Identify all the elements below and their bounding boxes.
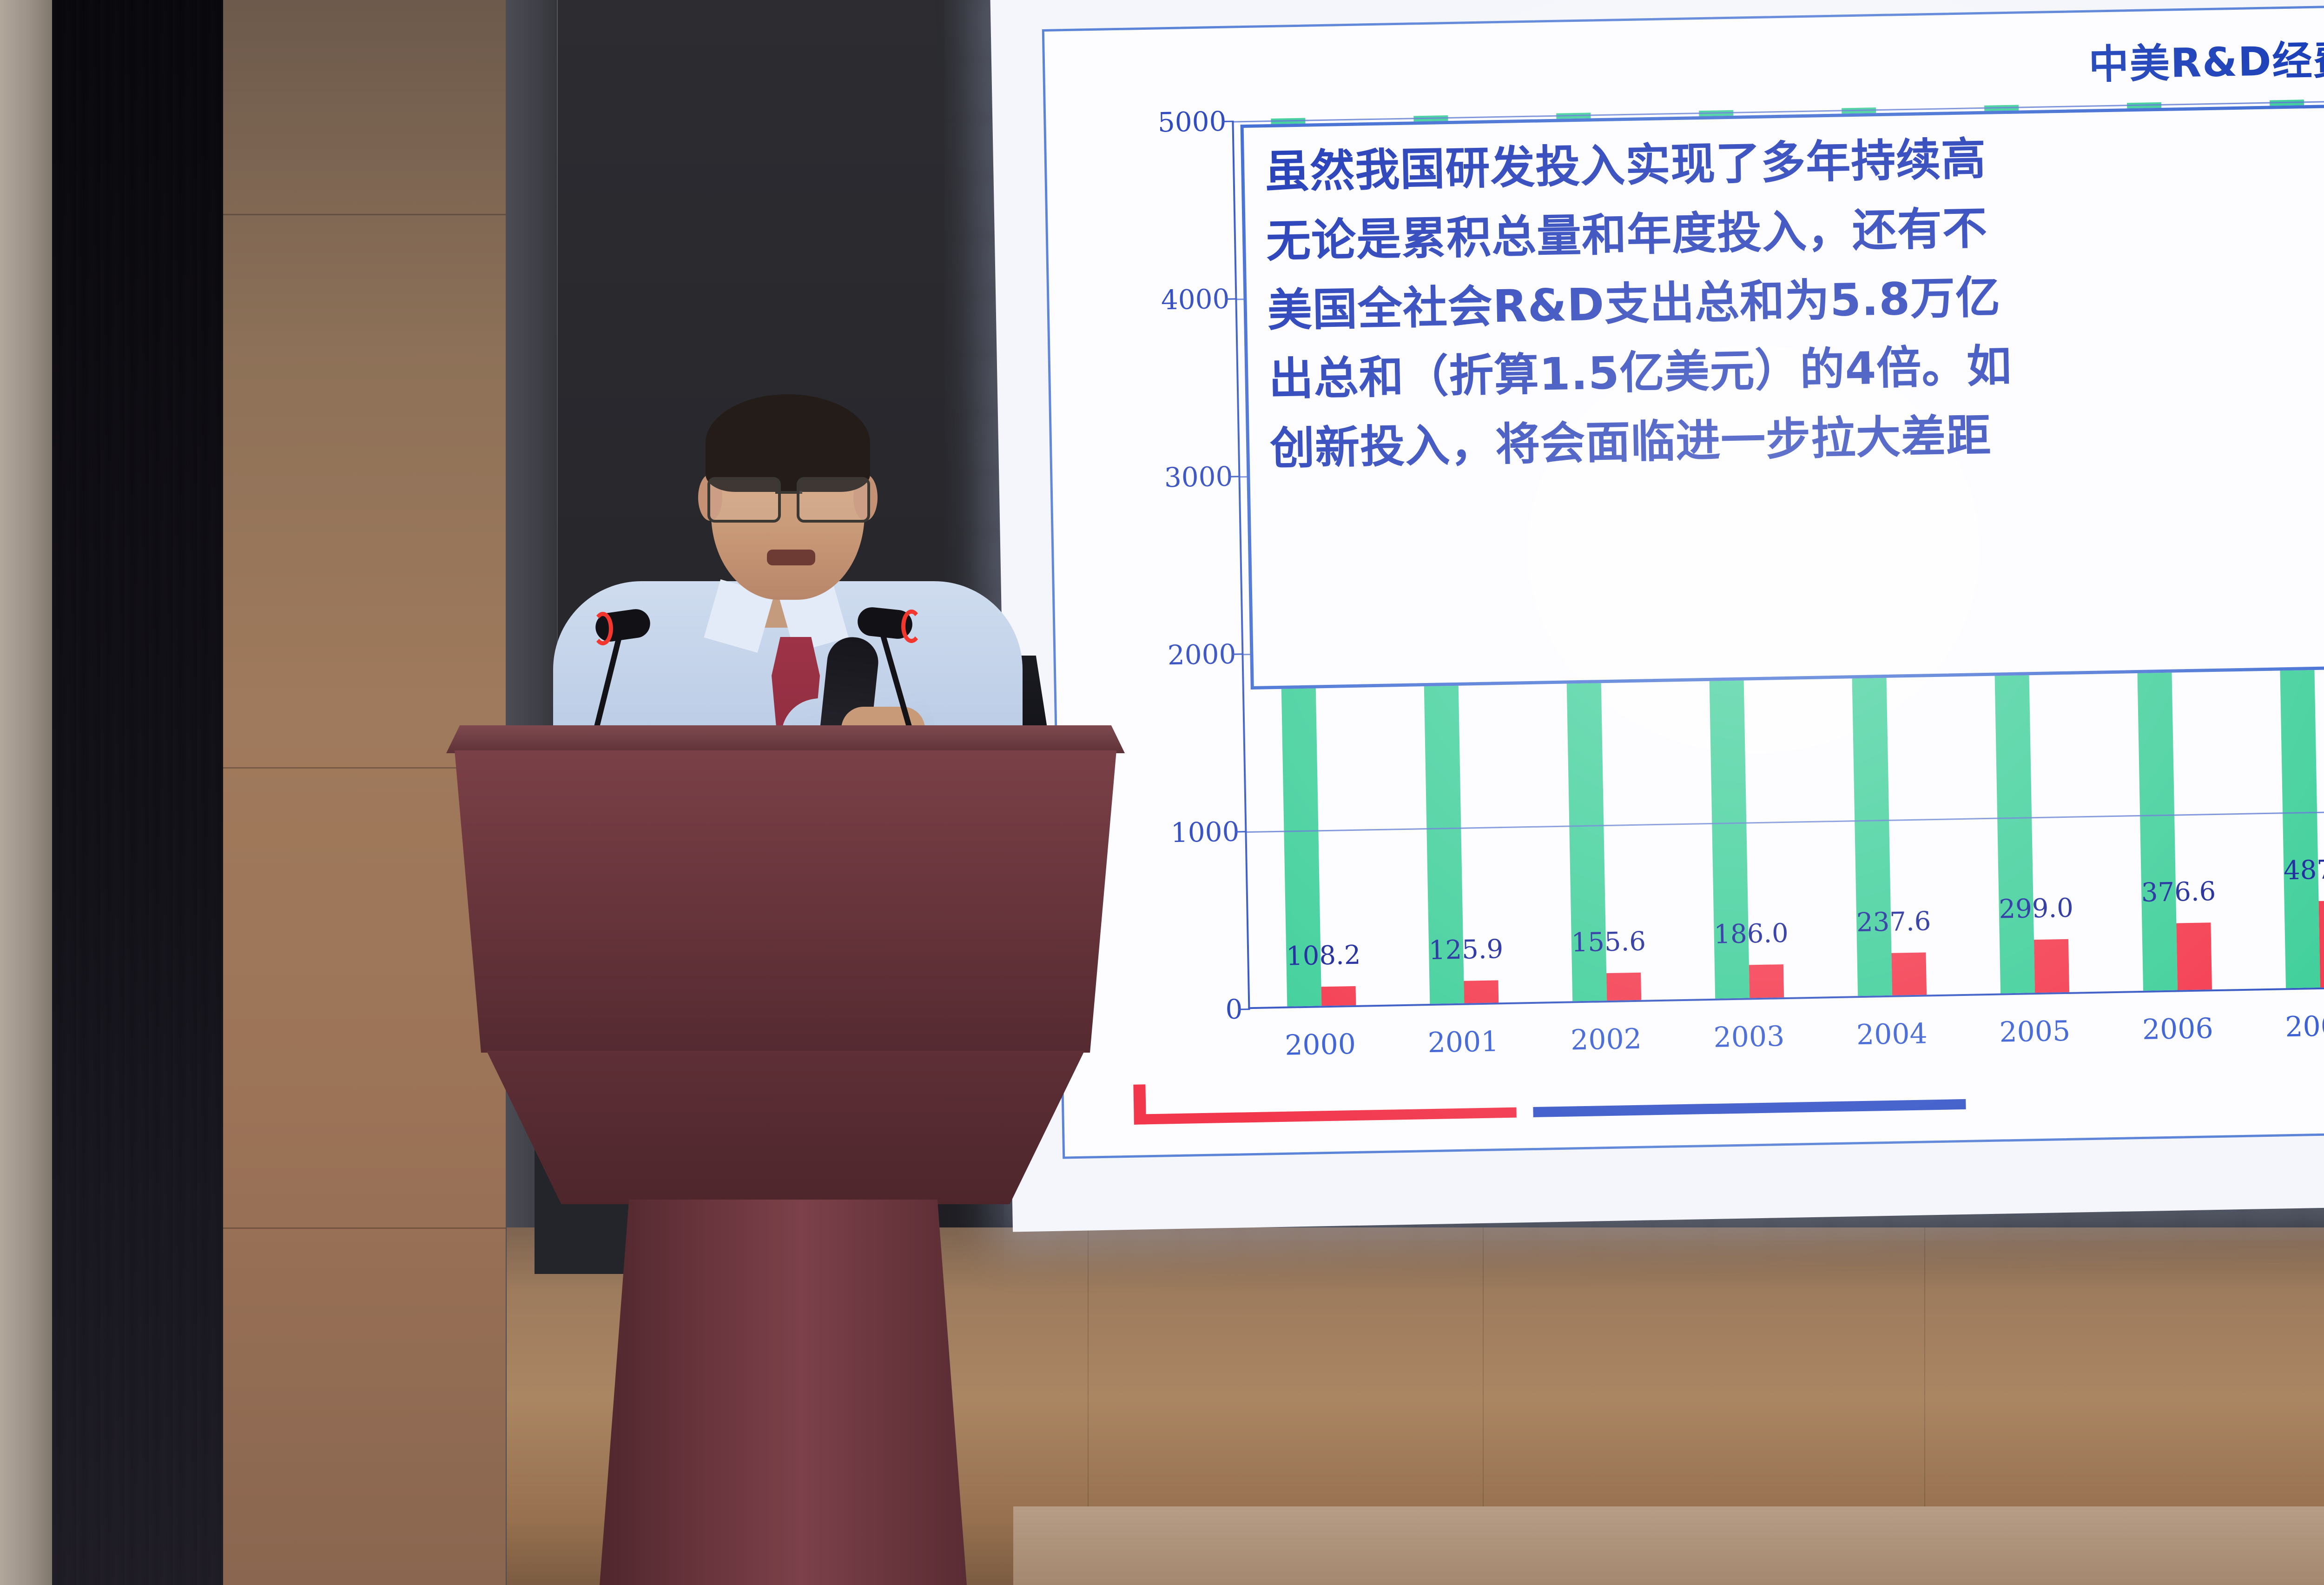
chart-bar-red bbox=[1749, 964, 1783, 998]
presentation-photo-stage: 中美R&D经费支 108.2125.9155.6186.0237.6299.03… bbox=[0, 0, 2324, 1585]
chart-y-tick-label: 5000 bbox=[1157, 106, 1227, 139]
glasses-icon bbox=[707, 477, 870, 517]
chart-y-tick-label: 4000 bbox=[1161, 283, 1230, 316]
chart-bar-red bbox=[1606, 972, 1641, 1001]
chart-bar-red bbox=[2176, 922, 2212, 990]
chart-x-tick-label: 2006 bbox=[2142, 1012, 2213, 1046]
chart-y-tick-mark bbox=[1221, 120, 1234, 122]
slide-text-line: 虽然我国研发投入实现了多年持续高 bbox=[1264, 123, 2324, 201]
chart-bar-red bbox=[2033, 939, 2069, 993]
left-pillar bbox=[0, 0, 55, 1585]
chart-x-tick-label: 2007 bbox=[2285, 1010, 2324, 1044]
chart-y-tick-mark bbox=[1228, 476, 1240, 477]
chart-value-label: 487.7 bbox=[2283, 854, 2324, 886]
podium-ledge bbox=[474, 1051, 1097, 1204]
chart-y-tick-mark bbox=[1231, 653, 1243, 655]
chart-bar-red bbox=[1321, 986, 1356, 1006]
chart-y-tick-mark bbox=[1238, 1008, 1250, 1010]
slide-text-line: 无论是累积总量和年度投入，还有不 bbox=[1266, 192, 2324, 271]
chart-x-tick-label: 2000 bbox=[1285, 1028, 1356, 1062]
chart-bar-red bbox=[1891, 953, 1927, 995]
chart-y-tick-mark bbox=[1235, 831, 1247, 832]
presentation-slide: 中美R&D经费支 108.2125.9155.6186.0237.6299.03… bbox=[1042, 5, 2324, 1159]
projection-screen: 中美R&D经费支 108.2125.9155.6186.0237.6299.03… bbox=[990, 0, 2324, 1232]
chart-x-tick-label: 2005 bbox=[1999, 1015, 2071, 1049]
chart-x-tick-label: 2001 bbox=[1427, 1025, 1499, 1059]
podium bbox=[446, 725, 1125, 1585]
chart-y-tick-label: 2000 bbox=[1167, 638, 1236, 671]
slide-text-line: 出总和（折算1.5亿美元）的4倍。如 bbox=[1268, 330, 2324, 409]
speaker-mouth bbox=[767, 550, 815, 565]
chart-value-label: 299.0 bbox=[1999, 893, 2073, 924]
chart-value-label: 108.2 bbox=[1286, 940, 1361, 971]
stage-curtain bbox=[52, 0, 226, 1585]
bottom-bar-red-segment bbox=[1134, 1108, 1517, 1125]
podium-top-edge bbox=[446, 725, 1125, 753]
slide-bottom-bar bbox=[1134, 1099, 1966, 1125]
chart-y-tick-mark bbox=[1225, 298, 1237, 299]
slide-title: 中美R&D经费支 bbox=[2088, 27, 2324, 90]
chart-x-tick-label: 2003 bbox=[1713, 1020, 1785, 1054]
chart-value-label: 237.6 bbox=[1856, 906, 1931, 938]
chart-y-tick-label: 1000 bbox=[1170, 816, 1240, 849]
chart-x-tick-label: 2002 bbox=[1571, 1023, 1642, 1057]
chart-y-tick-label: 3000 bbox=[1164, 461, 1233, 494]
chart-value-label: 125.9 bbox=[1428, 934, 1503, 966]
slide-text-box: 虽然我国研发投入实现了多年持续高无论是累积总量和年度投入，还有不美国全社会R&D… bbox=[1241, 104, 2324, 690]
chart-bar-red bbox=[1464, 980, 1499, 1003]
chart-value-label: 186.0 bbox=[1714, 918, 1789, 950]
slide-text-line: 创新投入，将会面临进一步拉大差距 bbox=[1269, 399, 2324, 478]
slide-text-line: 美国全社会R&D支出总和为5.8万亿 bbox=[1267, 261, 2324, 339]
chart-x-tick-label: 2004 bbox=[1856, 1017, 1928, 1051]
bottom-bar-blue-segment bbox=[1533, 1099, 1966, 1117]
chart-value-label: 376.6 bbox=[2141, 876, 2216, 908]
floor bbox=[1013, 1506, 2324, 1585]
podium-front-panel bbox=[455, 750, 1116, 1053]
chart-value-label: 155.6 bbox=[1571, 926, 1646, 958]
podium-column bbox=[600, 1200, 967, 1585]
